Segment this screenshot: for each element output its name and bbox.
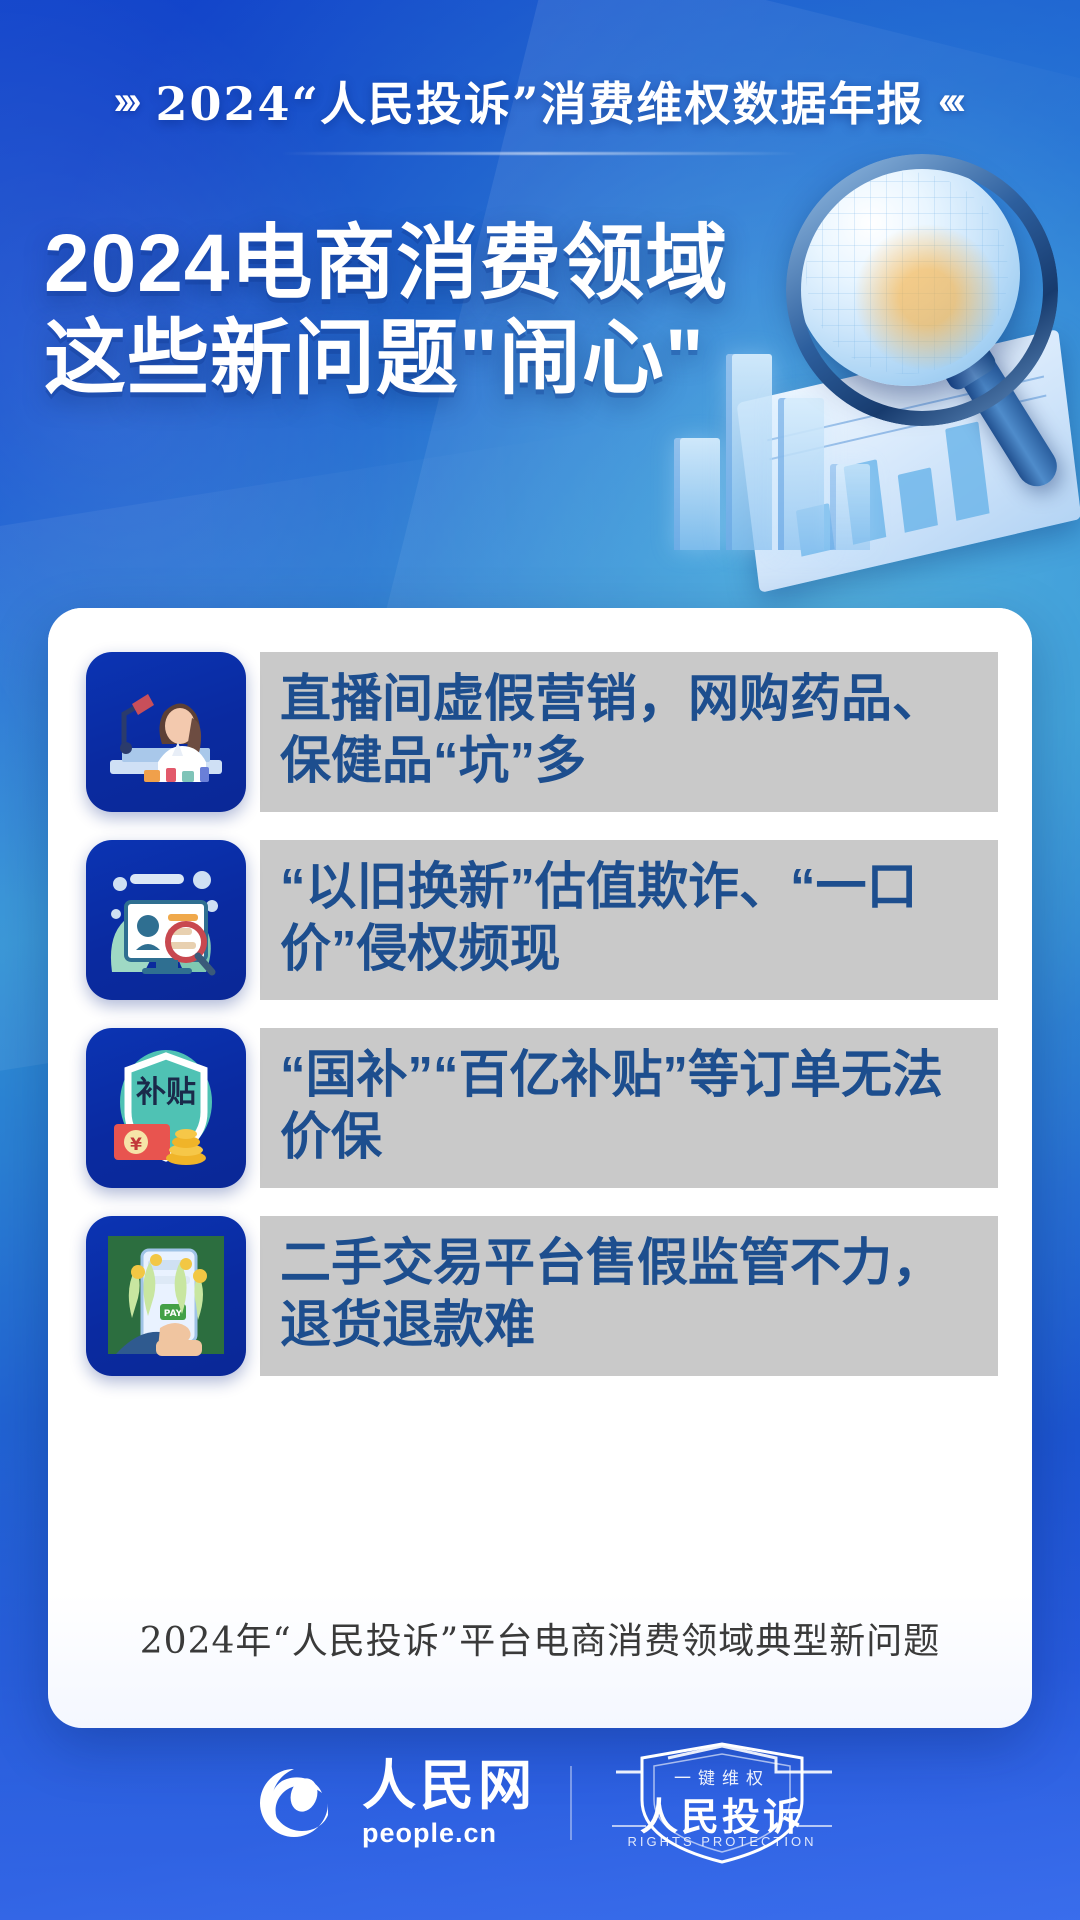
issue-text: “国补”“百亿补贴”等订单无法价保 [280, 1044, 980, 1168]
issue-text-band: “国补”“百亿补贴”等订单无法价保 [260, 1028, 998, 1188]
svg-text:补贴: 补贴 [136, 1075, 196, 1110]
poster-root: ››› 2024“人民投诉”消费维权数据年报 ››› 2024电商消费领域 [0, 0, 1080, 1920]
footer-divider [570, 1766, 572, 1840]
issue-text-band: 直播间虚假营销，网购药品、保健品“坑”多 [260, 652, 998, 812]
chevron-left-icon: ››› [944, 81, 966, 121]
badge-title: 人民投诉 [606, 1786, 838, 1841]
people-cn-name: 人民网 [362, 1758, 536, 1812]
rights-protection-badge[interactable]: 一键维权 人民投诉 RIGHTS PROTECTION [606, 1742, 838, 1864]
trade-in-appraisal-icon [86, 840, 246, 1000]
svg-text:¥: ¥ [130, 1135, 142, 1155]
poster-footer: 人民网 people.cn 一键维权 人民投诉 RIGHTS PROTECTIO… [0, 1738, 1080, 1868]
secondhand-phone-icon: PAY [86, 1216, 246, 1376]
list-item[interactable]: PAY [86, 1216, 998, 1376]
issue-text-band: “以旧换新”估值欺诈、“一口价”侵权频现 [260, 840, 998, 1000]
poster-header: ››› 2024“人民投诉”消费维权数据年报 ››› [0, 62, 1080, 140]
list-item[interactable]: 直播间虚假营销，网购药品、保健品“坑”多 [86, 652, 998, 812]
card-caption: 2024年“人民投诉”平台电商消费领域典型新问题 [48, 1612, 1032, 1664]
livestream-host-icon [86, 652, 246, 812]
svg-text:PAY: PAY [164, 1309, 183, 1319]
subsidy-shield-icon: 补贴 ¥ [86, 1028, 246, 1188]
hero-title-line-2: 这些新问题"闹心" [44, 311, 744, 406]
issue-text-band: 二手交易平台售假监管不力，退货退款难 [260, 1216, 998, 1376]
hero-title: 2024电商消费领域 这些新问题"闹心" [44, 216, 744, 406]
issue-list: 直播间虚假营销，网购药品、保健品“坑”多 [86, 652, 998, 1376]
people-cn-domain: people.cn [362, 1818, 497, 1849]
badge-english: RIGHTS PROTECTION [606, 1834, 838, 1849]
header-title: 2024“人民投诉”消费维权数据年报 [156, 68, 925, 134]
people-cn-logo[interactable]: 人民网 people.cn [242, 1751, 536, 1855]
list-item[interactable]: “以旧换新”估值欺诈、“一口价”侵权频现 [86, 840, 998, 1000]
content-card: 直播间虚假营销，网购药品、保健品“坑”多 [48, 608, 1032, 1728]
hero-title-line-1: 2024电商消费领域 [44, 216, 744, 311]
list-item[interactable]: 补贴 ¥ “国补”“百亿补贴”等订单无法价保 [86, 1028, 998, 1188]
people-cn-logo-icon [242, 1751, 346, 1855]
magnifying-glass-icon [772, 160, 1044, 460]
chevron-right-icon: ››› [114, 81, 136, 121]
issue-text: 二手交易平台售假监管不力，退货退款难 [280, 1232, 980, 1356]
issue-text: 直播间虚假营销，网购药品、保健品“坑”多 [280, 668, 980, 792]
issue-text: “以旧换新”估值欺诈、“一口价”侵权频现 [280, 856, 980, 980]
